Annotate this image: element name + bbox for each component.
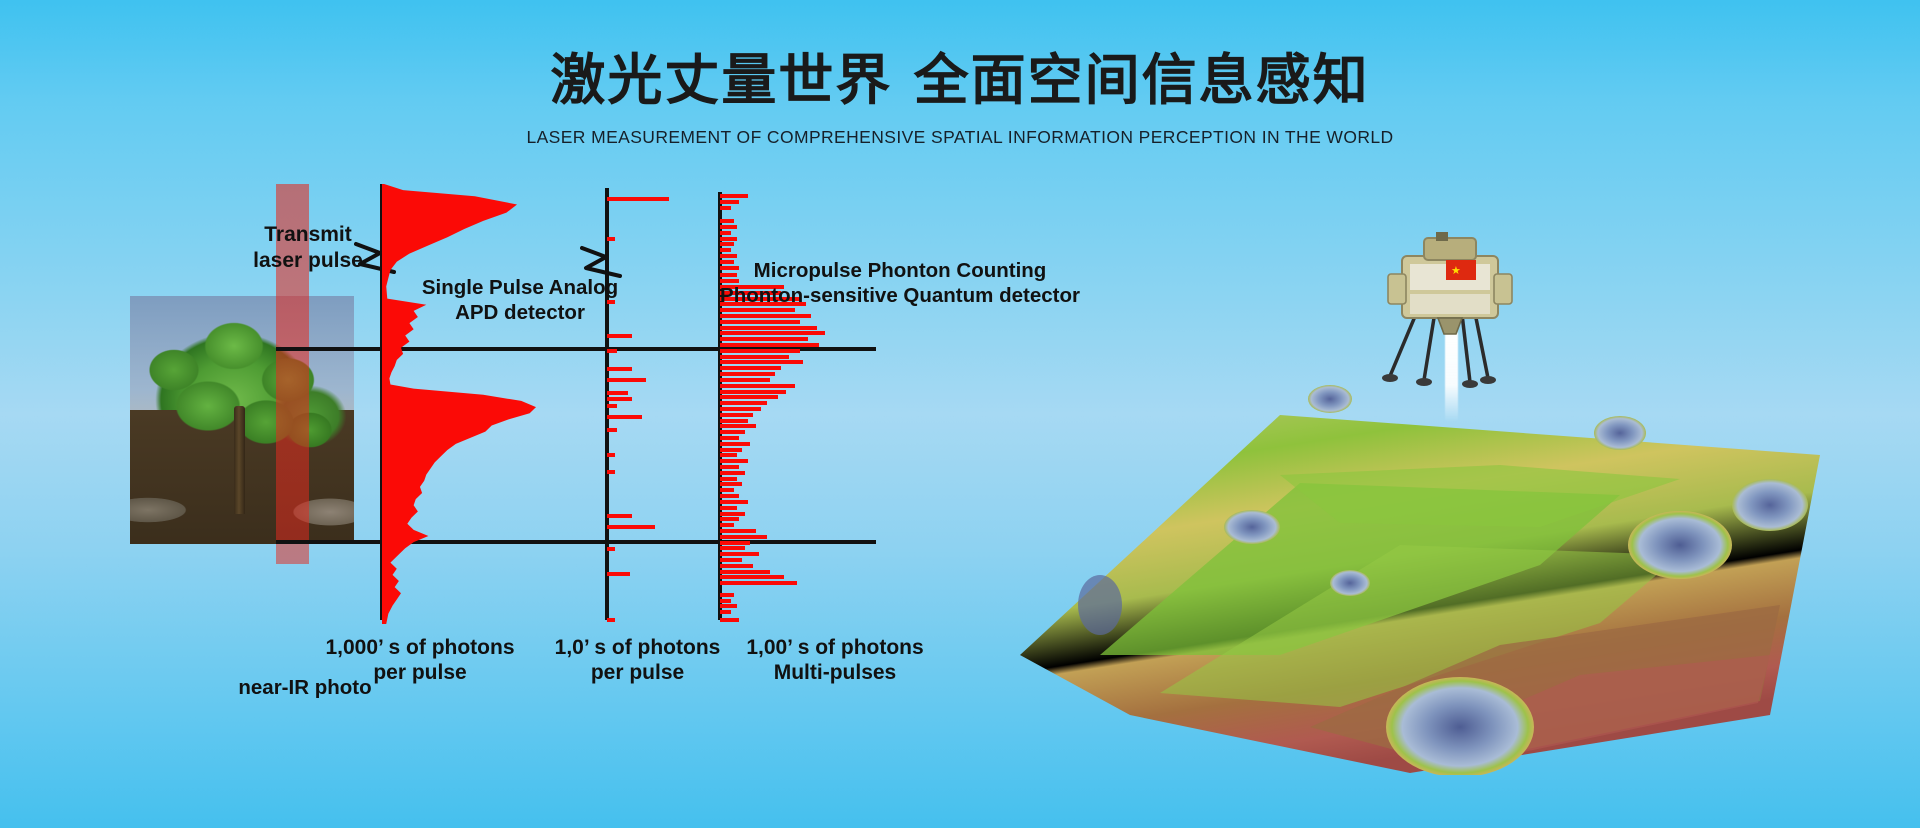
page-header: 激光丈量世界 全面空间信息感知 LASER MEASUREMENT OF COM… — [0, 0, 1920, 148]
crater-top-right — [1594, 416, 1646, 450]
spike-bar — [720, 343, 819, 347]
caption-micropulse-line2: Multi-pulses — [715, 660, 955, 685]
lander-nozzle — [1438, 318, 1462, 334]
spike-bar — [720, 407, 761, 411]
spike-bar — [607, 391, 628, 395]
spike-bar — [720, 599, 731, 603]
spike-bar — [607, 514, 632, 518]
spike-bar — [720, 331, 825, 335]
spike-bar — [720, 448, 742, 452]
spike-bar — [720, 237, 737, 241]
spike-bar — [607, 428, 617, 432]
spike-bar — [607, 470, 615, 474]
spike-bar — [720, 575, 784, 579]
spike-bar — [720, 326, 817, 330]
spike-bar — [720, 558, 742, 562]
label-transmit-line1: Transmit — [218, 222, 398, 248]
label-apd-line1: Single Pulse Analog — [380, 275, 660, 300]
near-ir-tree-photo — [130, 296, 354, 544]
analog-waveform-area — [382, 184, 536, 624]
crater-left-mid — [1224, 510, 1280, 544]
spike-bar — [720, 436, 739, 440]
spike-bar — [720, 349, 800, 353]
crater-edge-left — [1078, 575, 1122, 635]
page-subtitle: LASER MEASUREMENT OF COMPREHENSIVE SPATI… — [0, 127, 1920, 148]
spike-bar — [720, 424, 756, 428]
spike-bar — [607, 547, 615, 551]
lander-legs — [1390, 314, 1488, 382]
spike-bar — [720, 581, 797, 585]
spike-bar — [720, 541, 750, 545]
analog-waveform-plot — [382, 184, 542, 624]
tree-trunk — [234, 406, 245, 514]
spike-bar — [720, 564, 753, 568]
label-apd-detector: Single Pulse Analog APD detector — [380, 275, 660, 325]
spike-bar — [720, 360, 803, 364]
spike-bar — [720, 219, 734, 223]
crater-large-front — [1386, 677, 1534, 775]
spike-bar — [607, 197, 669, 201]
crater-center — [1330, 570, 1370, 596]
lunar-lander: ★ — [1380, 230, 1520, 390]
spike-bar — [720, 248, 731, 252]
spike-bar — [720, 453, 737, 457]
spike-bar — [720, 337, 808, 341]
crater-upper-left — [1308, 385, 1352, 413]
spike-bar — [720, 366, 781, 370]
spike-bar — [720, 471, 745, 475]
spike-bar — [720, 512, 745, 516]
label-transmit-line2: laser pulse — [218, 248, 398, 274]
spike-bar — [720, 242, 734, 246]
spike-bar — [720, 500, 748, 504]
lunar-survey-scene: ★ — [980, 230, 1860, 790]
spike-bar — [720, 459, 748, 463]
spike-bar — [720, 494, 739, 498]
spike-bar — [607, 572, 630, 576]
spike-bar — [607, 367, 632, 371]
spike-bar — [720, 430, 745, 434]
lander-footpads — [1382, 374, 1496, 388]
spike-bar — [607, 397, 632, 401]
caption-low-photon: 1,0’ s of photons per pulse — [530, 635, 745, 685]
caption-low-photon-line2: per pulse — [530, 660, 745, 685]
caption-micropulse: 1,00’ s of photons Multi-pulses — [715, 635, 955, 685]
caption-analog-line1: 1,000’ s of photons — [300, 635, 540, 660]
spike-bar — [720, 523, 734, 527]
spike-bar — [720, 570, 770, 574]
spike-bar — [720, 546, 745, 550]
spike-bar — [720, 384, 795, 388]
label-transmit-laser-pulse: Transmit laser pulse — [218, 222, 398, 273]
svg-text:★: ★ — [1451, 265, 1461, 277]
spike-bar — [720, 610, 731, 614]
spike-bar — [720, 529, 756, 533]
spike-bar — [607, 415, 642, 419]
micropulse-spike-plot — [720, 192, 880, 624]
spike-bar — [720, 308, 795, 312]
spike-bar — [720, 355, 789, 359]
spike-bar — [720, 200, 739, 204]
spike-bar — [607, 453, 615, 457]
spike-bar — [720, 194, 748, 198]
spike-bar — [607, 237, 615, 241]
caption-micropulse-line1: 1,00’ s of photons — [715, 635, 955, 660]
spike-bar — [720, 206, 731, 210]
spike-bar — [720, 535, 767, 539]
spike-bar — [720, 419, 748, 423]
spike-bar — [720, 395, 778, 399]
spike-bar — [720, 552, 759, 556]
spike-bar — [720, 314, 811, 318]
spike-bar — [720, 506, 737, 510]
spike-bar — [720, 442, 750, 446]
spike-bar — [720, 482, 742, 486]
spike-bar — [720, 390, 786, 394]
spike-bar — [720, 465, 739, 469]
caption-analog-photons: 1,000’ s of photons per pulse — [300, 635, 540, 685]
spike-bar — [607, 404, 617, 408]
spike-bar — [607, 525, 655, 529]
spike-bar — [720, 477, 737, 481]
spike-bar — [720, 517, 739, 521]
crater-large-right — [1628, 511, 1732, 579]
spike-bar — [607, 618, 615, 622]
spike-bar — [720, 225, 737, 229]
spike-bar — [720, 413, 753, 417]
spike-bar — [720, 618, 739, 622]
spike-bar — [607, 349, 617, 353]
lander-side-panel-right — [1494, 274, 1512, 304]
spike-bar — [720, 401, 767, 405]
spike-bar — [720, 488, 734, 492]
crater-right-upper — [1732, 479, 1808, 531]
lander-upper-stage — [1424, 238, 1476, 260]
spike-bar — [720, 372, 775, 376]
spike-bar — [720, 231, 731, 235]
page-title: 激光丈量世界 全面空间信息感知 — [0, 52, 1920, 110]
caption-low-photon-line1: 1,0’ s of photons — [530, 635, 745, 660]
label-apd-line2: APD detector — [380, 300, 660, 325]
caption-analog-line2: per pulse — [300, 660, 540, 685]
terrain-elevation-model — [980, 355, 1860, 775]
spike-bar — [607, 334, 632, 338]
spike-bar — [720, 378, 770, 382]
spike-bar — [720, 320, 800, 324]
spike-bar — [720, 604, 737, 608]
low-photon-spike-plot — [607, 188, 737, 624]
lander-side-panel-left — [1388, 274, 1406, 304]
spike-bar — [720, 593, 734, 597]
spike-bar — [607, 378, 646, 382]
